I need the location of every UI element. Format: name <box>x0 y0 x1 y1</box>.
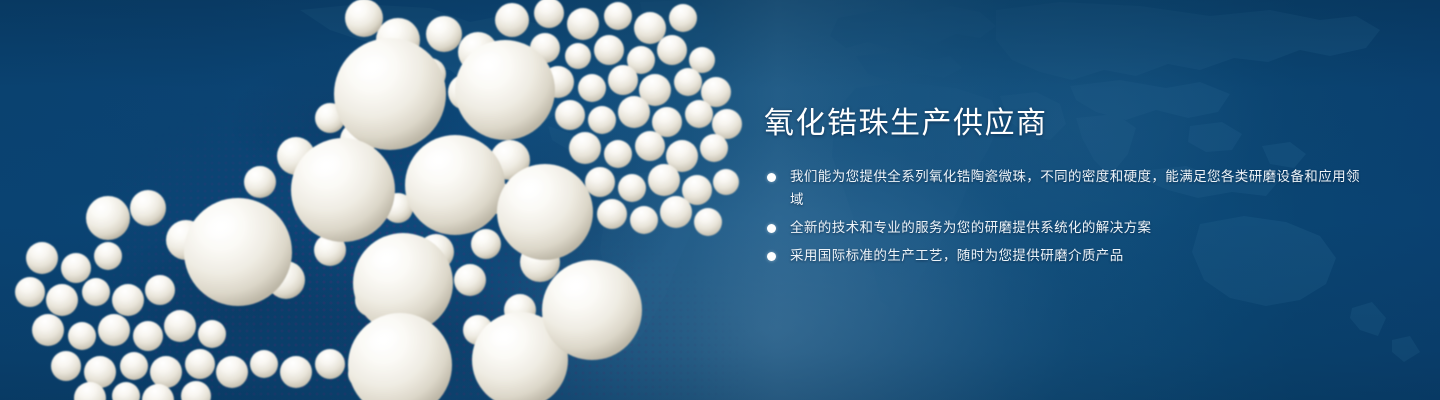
page-title: 氧化锆珠生产供应商 <box>764 104 1364 144</box>
hero-banner: 氧化锆珠生产供应商 我们能为您提供全系列氧化锆陶瓷微珠，不同的密度和硬度，能满足… <box>0 0 1440 400</box>
list-item-label: 我们能为您提供全系列氧化锆陶瓷微珠，不同的密度和硬度，能满足您各类研磨设备和应用… <box>790 169 1360 208</box>
feature-list: 我们能为您提供全系列氧化锆陶瓷微珠，不同的密度和硬度，能满足您各类研磨设备和应用… <box>764 166 1364 268</box>
banner-copy: 氧化锆珠生产供应商 我们能为您提供全系列氧化锆陶瓷微珠，不同的密度和硬度，能满足… <box>764 104 1364 268</box>
list-item: 采用国际标准的生产工艺，随时为您提供研磨介质产品 <box>764 245 1364 268</box>
bullet-dot-icon <box>767 173 776 182</box>
list-item: 全新的技术和专业的服务为您的研磨提供系统化的解决方案 <box>764 217 1364 240</box>
list-item: 我们能为您提供全系列氧化锆陶瓷微珠，不同的密度和硬度，能满足您各类研磨设备和应用… <box>764 166 1364 212</box>
bullet-dot-icon <box>767 224 776 233</box>
list-item-label: 全新的技术和专业的服务为您的研磨提供系统化的解决方案 <box>790 220 1151 236</box>
list-item-label: 采用国际标准的生产工艺，随时为您提供研磨介质产品 <box>790 248 1124 264</box>
bullet-dot-icon <box>767 252 776 261</box>
